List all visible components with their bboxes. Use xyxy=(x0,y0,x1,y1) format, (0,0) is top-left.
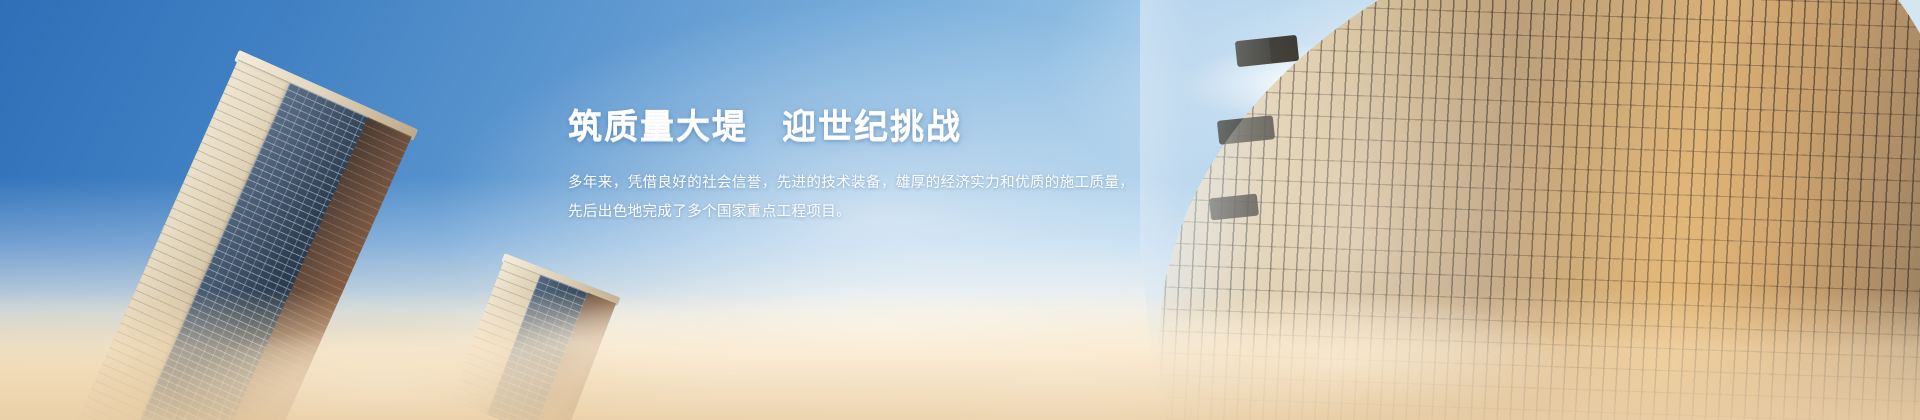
left-skyscraper-glass-face xyxy=(128,83,369,420)
warm-haze-band xyxy=(0,290,1920,420)
banner-subcopy: 多年来，凭借良好的社会信誉，先进的技术装备，雄厚的经济实力和优质的施工质量， 先… xyxy=(568,169,1128,227)
left-secondary-tower xyxy=(450,260,616,420)
left-skyscraper-roof xyxy=(234,50,418,141)
right-building-facade xyxy=(1140,0,1920,420)
left-skyscraper xyxy=(76,59,412,420)
headline-part-1: 筑质量大堤 xyxy=(568,108,748,146)
right-curved-glass-building xyxy=(1140,0,1920,420)
right-building-glass-sheen xyxy=(1140,0,1920,420)
left-secondary-tower-shadow-face xyxy=(534,293,616,420)
right-building-bright-edge xyxy=(1140,0,1320,420)
subcopy-line-2: 先后出色地完成了多个国家重点工程项目。 xyxy=(568,198,1128,227)
right-building-window-band xyxy=(1209,194,1259,221)
headline-part-2: 迎世纪挑战 xyxy=(782,108,962,146)
right-building-vertical-mullions xyxy=(1140,0,1920,420)
subcopy-line-1: 多年来，凭借良好的社会信誉，先进的技术装备，雄厚的经济实力和优质的施工质量， xyxy=(568,169,1128,198)
right-building-horizontal-mullions xyxy=(1140,0,1920,420)
hero-banner: 筑质量大堤迎世纪挑战 多年来，凭借良好的社会信誉，先进的技术装备，雄厚的经济实力… xyxy=(0,0,1920,420)
cloud-band xyxy=(0,205,1920,420)
left-skyscraper-stone-face xyxy=(76,59,292,420)
cloud-top-right xyxy=(1160,0,1590,120)
banner-headline: 筑质量大堤迎世纪挑战 xyxy=(568,108,1128,147)
left-secondary-tower-glass-face xyxy=(487,274,589,420)
left-skyscraper-shadow-face xyxy=(205,117,412,420)
right-building-window-band xyxy=(1217,115,1275,145)
banner-copy: 筑质量大堤迎世纪挑战 多年来，凭借良好的社会信誉，先进的技术装备，雄厚的经济实力… xyxy=(568,108,1128,227)
left-secondary-tower-roof xyxy=(501,253,620,306)
right-building-window-band xyxy=(1235,35,1299,67)
left-secondary-tower-stone-face xyxy=(450,260,541,414)
